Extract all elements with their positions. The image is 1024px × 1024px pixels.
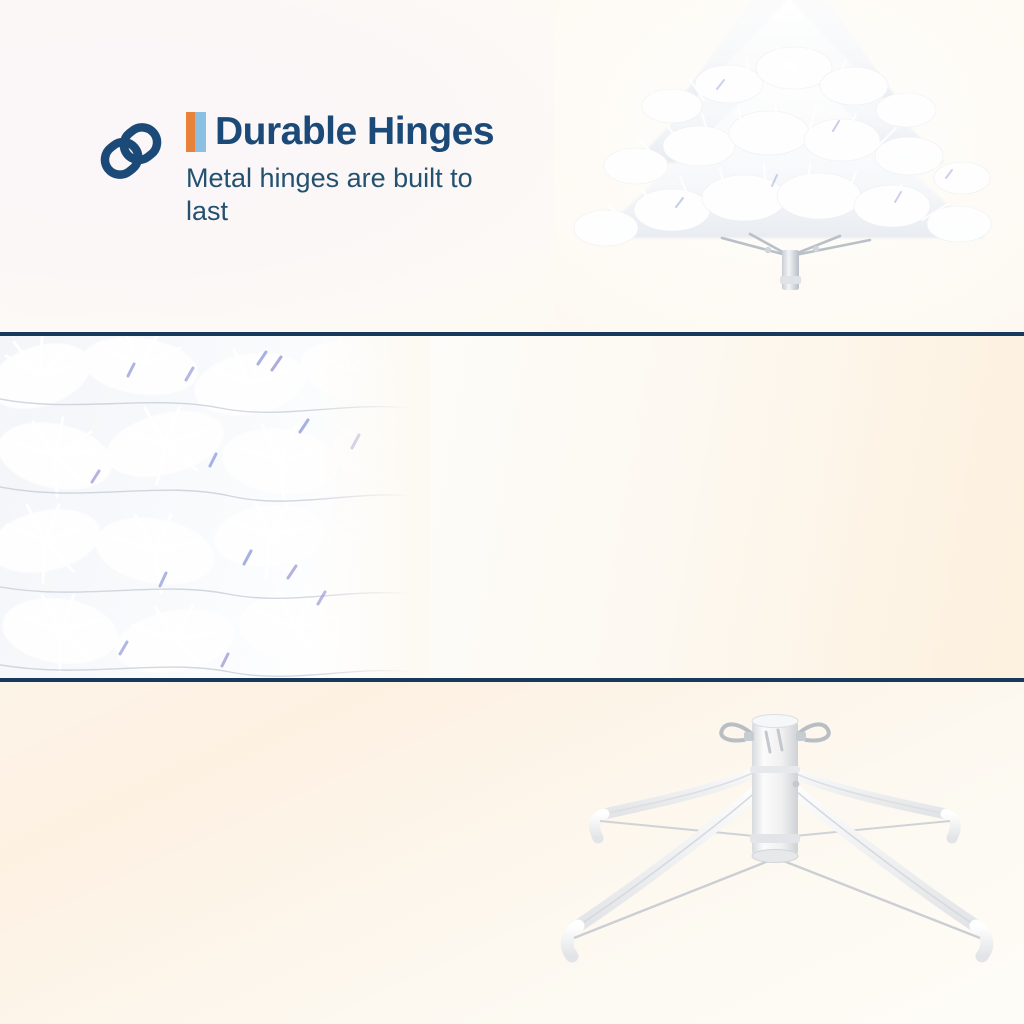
accent-bar-orange — [186, 112, 195, 152]
feature-panel-durable-hinges: Durable Hinges Metal hinges are built to… — [0, 0, 1024, 336]
panel-divider — [0, 332, 1024, 336]
feature-title: Durable Hinges — [215, 112, 494, 152]
chain-link-icon — [98, 118, 164, 184]
tree-stand-photo — [538, 690, 1008, 990]
feature-durable-hinges: Durable Hinges Metal hinges are built to… — [98, 112, 516, 228]
feature-panel-pvc-branches: PVC Branches Realistic, Flame-retardant … — [0, 336, 1024, 682]
photo-fade-edge — [310, 336, 430, 682]
product-feature-infographic: Durable Hinges Metal hinges are built to… — [0, 0, 1024, 1024]
accent-bar-blue — [195, 112, 206, 152]
feature-panel-sturdy-base: Sturdy Base Strong, stable stand — [0, 682, 1024, 1024]
panel-divider — [0, 678, 1024, 682]
feature-subtitle: Metal hinges are built to last — [186, 162, 516, 228]
feature-text-block: Durable Hinges Metal hinges are built to… — [186, 112, 516, 228]
heading-row: Durable Hinges — [186, 112, 516, 152]
pvc-branch-closeup-photo — [0, 336, 430, 682]
accent-bar — [186, 112, 206, 152]
christmas-tree-photo — [554, 0, 1024, 336]
